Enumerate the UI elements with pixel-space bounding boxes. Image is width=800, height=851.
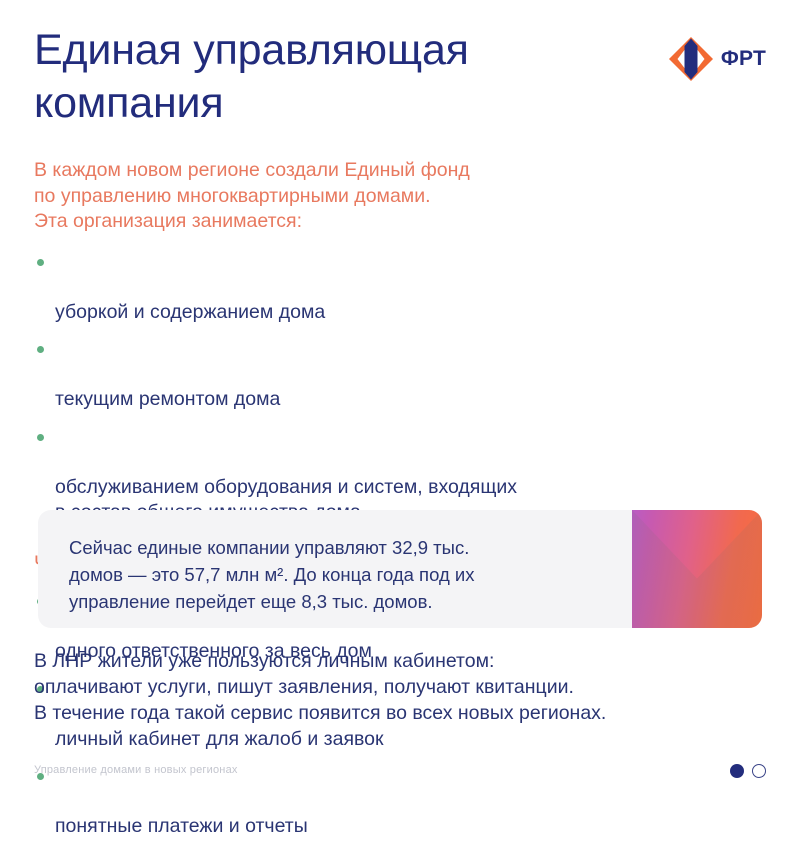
bullet-dot-icon — [37, 259, 44, 266]
frt-diamond-logo-icon — [668, 36, 714, 82]
statistics-callout: Сейчас единые компании управляют 32,9 ты… — [38, 510, 762, 628]
list-item-label: уборкой и содержанием дома — [55, 301, 325, 323]
slide-header: Единая управляющая компания ФРТ — [34, 24, 770, 130]
chevron-highlight-layer — [632, 510, 762, 628]
list-item: уборкой и содержанием дома — [34, 249, 766, 326]
list-item: текущим ремонтом дома — [34, 336, 766, 413]
lead-paragraph: В каждом новом регионе создали Единый фо… — [34, 158, 766, 235]
page-title: Единая управляющая компания — [34, 24, 469, 130]
frt-logo: ФРТ — [668, 36, 766, 82]
list-item-label: понятные платежи и отчеты — [55, 815, 308, 837]
slide-body: В каждом новом регионе создали Единый фо… — [34, 158, 766, 851]
page-dot-2[interactable] — [752, 764, 766, 778]
bullet-dot-icon — [37, 434, 44, 441]
gradient-chevron-art-icon — [632, 510, 762, 628]
infographic-slide: Единая управляющая компания ФРТ В каждом… — [0, 0, 800, 800]
page-dot-1[interactable] — [730, 764, 744, 778]
callout-text: Сейчас единые компании управляют 32,9 ты… — [69, 534, 629, 615]
duties-list: уборкой и содержанием дома текущим ремон… — [34, 249, 766, 526]
page-indicator — [730, 764, 766, 778]
bullet-dot-icon — [37, 346, 44, 353]
frt-logo-text: ФРТ — [721, 47, 766, 71]
list-item-label: текущим ремонтом дома — [55, 388, 280, 410]
list-item-label: личный кабинет для жалоб и заявок — [55, 728, 384, 750]
closing-paragraph: В ЛНР жители уже пользуются личным кабин… — [34, 648, 770, 726]
footer-note: Управление домами в новых регионах — [34, 764, 238, 776]
